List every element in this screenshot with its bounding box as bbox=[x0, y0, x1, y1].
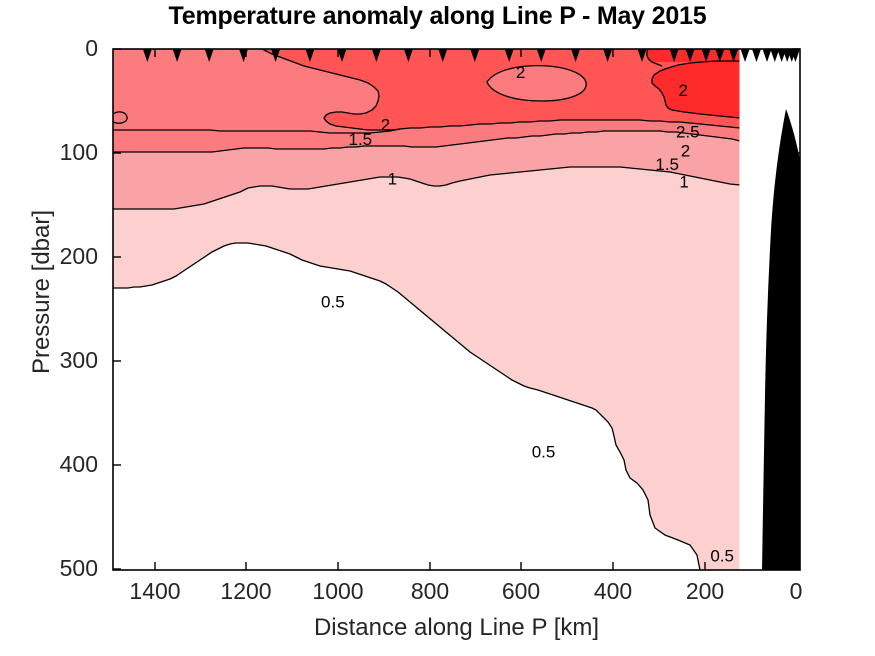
x-tick-label: 0 bbox=[751, 578, 841, 605]
y-tick-label: 500 bbox=[8, 555, 98, 582]
contour-value-label: 2 bbox=[678, 81, 687, 100]
y-tick-label: 300 bbox=[8, 347, 98, 374]
contour-value-label: 2 bbox=[381, 115, 390, 134]
plot-canvas: 221.5122.521.510.50.50.5 bbox=[0, 0, 875, 656]
contour-value-label: 1 bbox=[679, 173, 688, 192]
y-tick-label: 0 bbox=[8, 35, 98, 62]
contour-value-label: 1 bbox=[388, 169, 397, 188]
contour-value-label: 2.5 bbox=[676, 123, 700, 142]
contour-value-label: 0.5 bbox=[321, 292, 345, 311]
y-tick-label: 100 bbox=[8, 139, 98, 166]
x-tick-label: 1200 bbox=[201, 578, 291, 605]
contour-value-label: 0.5 bbox=[532, 442, 556, 461]
contour-value-label: 0.5 bbox=[710, 547, 734, 566]
x-tick-label: 200 bbox=[660, 578, 750, 605]
contour-value-label: 1.5 bbox=[655, 155, 679, 174]
contour-figure: Temperature anomaly along Line P - May 2… bbox=[0, 0, 875, 656]
x-tick-label: 600 bbox=[476, 578, 566, 605]
x-tick-label: 400 bbox=[568, 578, 658, 605]
contour-value-label: 2 bbox=[516, 63, 525, 82]
contour-value-label: 2 bbox=[681, 141, 690, 160]
x-tick-label: 1000 bbox=[293, 578, 383, 605]
y-tick-label: 400 bbox=[8, 451, 98, 478]
y-tick-label: 200 bbox=[8, 243, 98, 270]
x-tick-label: 1400 bbox=[110, 578, 200, 605]
contour-value-label: 1.5 bbox=[348, 130, 372, 149]
x-tick-label: 800 bbox=[385, 578, 475, 605]
